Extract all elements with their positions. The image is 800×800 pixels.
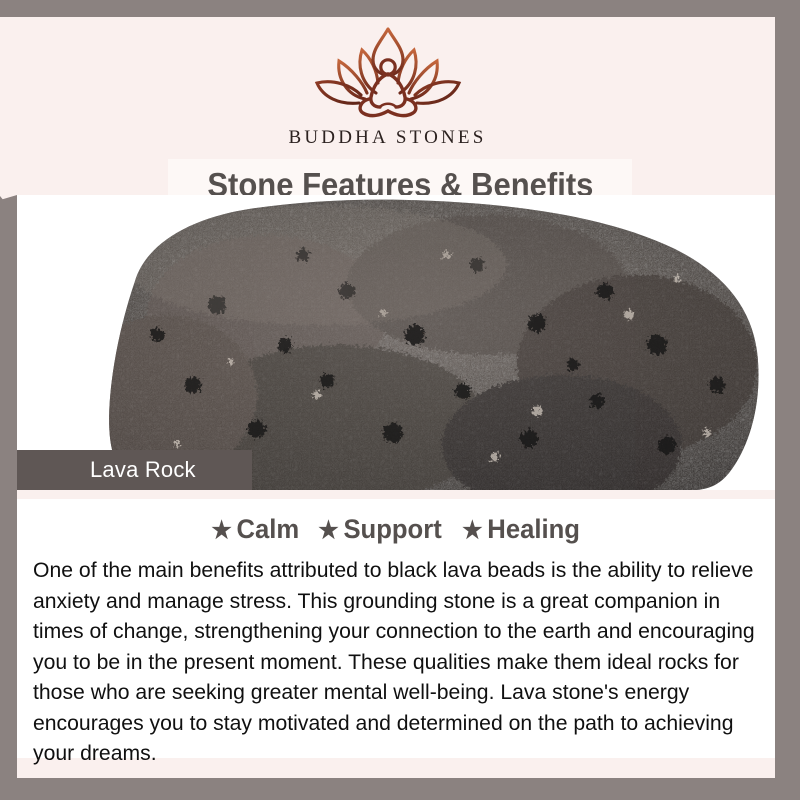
stone-name-label: Lava Rock	[17, 457, 196, 483]
header-section: BUDDHA STONES Stone Features & Benefits	[0, 17, 775, 195]
stone-photo	[17, 195, 775, 490]
benefit-label: Support	[344, 514, 442, 544]
brand-name: BUDDHA STONES	[0, 127, 775, 149]
photo-divider	[17, 490, 775, 499]
content-card: ★Calm★Support★Healing One of the main be…	[17, 499, 775, 758]
lotus-meditation-icon	[313, 23, 463, 119]
star-icon: ★	[211, 517, 231, 544]
star-icon: ★	[319, 517, 339, 544]
benefit-label: Calm	[236, 514, 299, 544]
benefits-row: ★Calm★Support★Healing	[17, 514, 775, 545]
benefit-item-calm: ★Calm	[211, 514, 299, 545]
lava-rock-photo	[17, 195, 775, 490]
stone-name-bar: Lava Rock	[17, 450, 252, 490]
star-icon: ★	[462, 517, 482, 544]
benefit-item-healing: ★Healing	[462, 514, 580, 545]
description-text: One of the main benefits attributed to b…	[33, 555, 764, 769]
brand-logo	[0, 21, 775, 121]
poster-root: BUDDHA STONES Stone Features & Benefits	[0, 0, 800, 800]
benefit-item-support: ★Support	[319, 514, 443, 545]
benefit-label: Healing	[488, 514, 581, 544]
